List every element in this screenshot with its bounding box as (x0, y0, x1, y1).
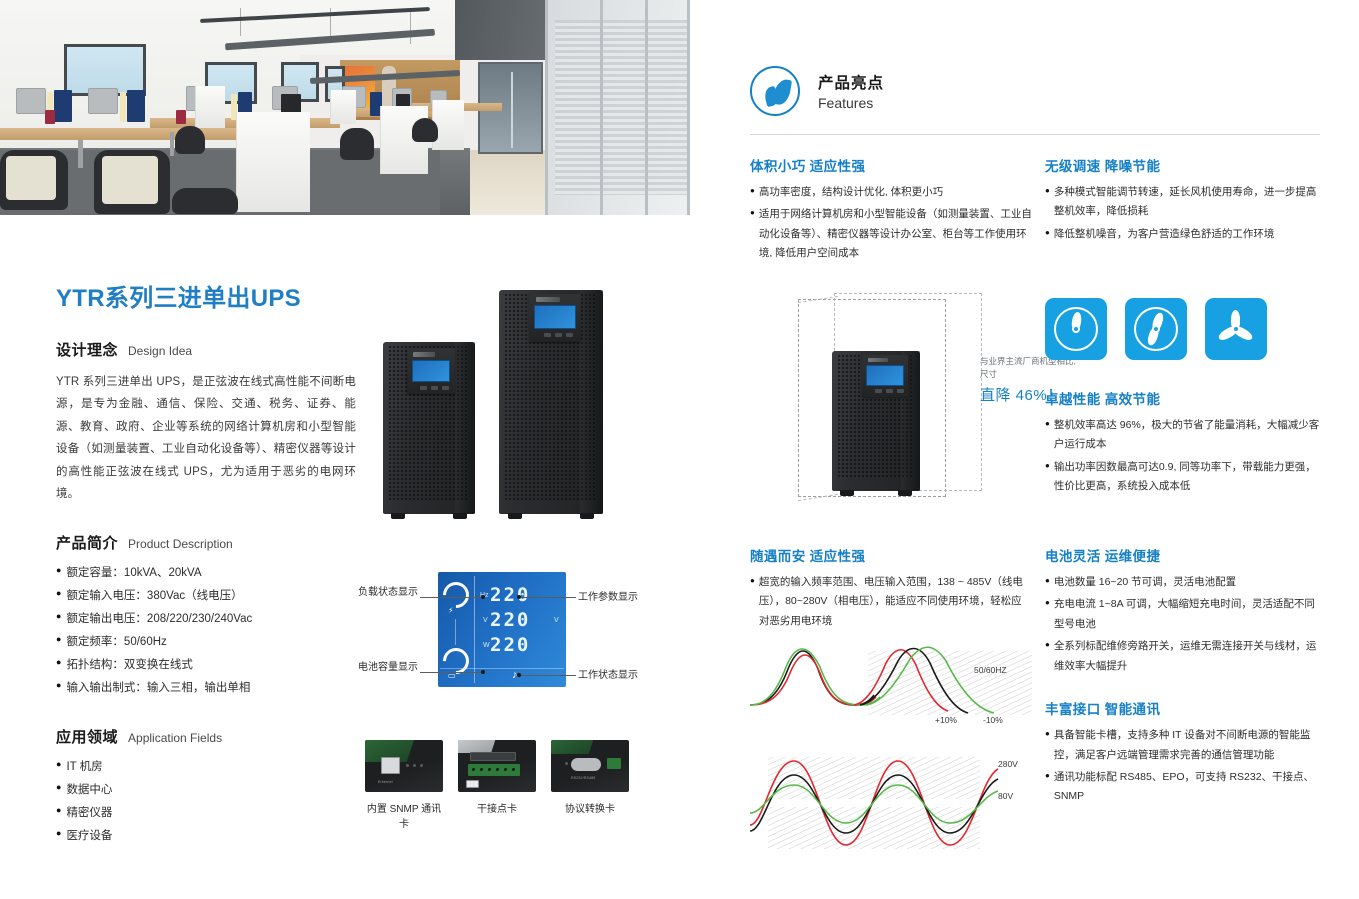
feature-bullet: ●电池数量 16~20 节可调，灵活电池配置 (1045, 573, 1323, 592)
card-protocol-converter: RS232/RS485 协议转换卡 (551, 740, 629, 815)
bullet-dot-icon: ● (750, 183, 755, 198)
application-fields-list: ●IT 机房 ●数据中心 ●精密仪器 ●医疗设备 (56, 756, 356, 848)
callout-battery-capacity: 电池容量显示 (358, 658, 418, 673)
protocol-port-label: RS232/RS485 (571, 776, 596, 780)
ups-product-photos (375, 290, 640, 545)
feature-bullet: ●多种模式智能调节转速，延长风机使用寿命，进一步提高整机效率，降低损耗 (1045, 183, 1323, 222)
ups-compact-unit (832, 351, 920, 491)
bullet-dot-icon: ● (56, 654, 61, 672)
bullet-dot-icon: ● (56, 677, 61, 695)
feature-bullet-text: 电池数量 16~20 节可调，灵活电池配置 (1054, 573, 1236, 592)
list-item-text: 额定容量：10kVA、20kVA (66, 562, 201, 585)
chart-annotation-280v: 280V (998, 759, 1018, 769)
list-item: ●拓扑结构：双变换在线式 (56, 654, 356, 677)
bullet-dot-icon: ● (56, 802, 61, 820)
feature-block-performance: 卓越性能 高效节能 ●整机效率高达 96%，极大的节省了能量消耗，大幅减少客户运… (1045, 388, 1323, 500)
list-item: ●数据中心 (56, 779, 356, 802)
bullet-dot-icon: ● (1045, 726, 1050, 741)
voltage-waveform-svg (750, 751, 1032, 861)
list-item: ●医疗设备 (56, 825, 356, 848)
feature-title: 卓越性能 高效节能 (1045, 388, 1323, 408)
application-title-en: Application Fields (128, 731, 222, 745)
list-item-text: IT 机房 (66, 756, 102, 779)
features-title-cn: 产品亮点 (818, 71, 884, 93)
features-header: 产品亮点 Features (750, 66, 1320, 116)
features-row-3: 随遇而安 适应性强 ●超宽的输入频率范围、电压输入范围，138 ~ 485V（线… (750, 545, 1320, 875)
bullet-dot-icon: ● (750, 205, 755, 220)
fan-speed-icons (1045, 298, 1267, 360)
feature-bullet: ●充电电流 1~8A 可调，大幅缩短充电时间，灵活适配不同型号电池 (1045, 595, 1323, 634)
feature-bullet: ●通讯功能标配 RS485、EPO，可支持 RS232、干接点、SNMP (1045, 768, 1323, 807)
list-item-text: 精密仪器 (66, 802, 112, 825)
feature-bullet-text: 整机效率高达 96%，极大的节省了能量消耗，大幅减少客户运行成本 (1054, 416, 1323, 455)
bullet-dot-icon: ● (1045, 637, 1050, 652)
feature-bullet: ●整机效率高达 96%，极大的节省了能量消耗，大幅减少客户运行成本 (1045, 416, 1323, 455)
feature-bullet: ●全系列标配维修旁路开关，运维无需连接开关与线材，运维效率大幅提升 (1045, 637, 1323, 676)
feature-bullet-text: 输出功率因数最高可达0.9, 同等功率下，带载能力更强，性价比更高，系统投入成本… (1054, 458, 1323, 497)
bullet-dot-icon: ● (1045, 768, 1050, 783)
list-item: ●额定输出电压：208/220/230/240Vac (56, 608, 356, 631)
fan-3-blade-icon (1205, 298, 1267, 360)
feature-bullet-text: 适用于网络计算机房和小型智能设备（如测量装置、工业自动化设备等）、精密仪器等设计… (759, 205, 1032, 263)
chart-annotation-frequency: 50/60HZ (974, 665, 1007, 675)
feature-bullet: ●超宽的输入频率范围、电压输入范围，138 ~ 485V（线电压），80~280… (750, 573, 1032, 631)
chart-annotation-80v: 80V (998, 791, 1013, 801)
load-icon: ⚡ (448, 606, 454, 615)
feature-bullet-text: 通讯功能标配 RS485、EPO，可支持 RS232、干接点、SNMP (1054, 768, 1323, 807)
list-item: ●额定输入电压：380Vac（线电压） (56, 585, 356, 608)
office-scene (0, 0, 690, 215)
bullet-dot-icon: ● (56, 779, 61, 797)
bullet-dot-icon: ● (56, 562, 61, 580)
feature-bullet-text: 超宽的输入频率范围、电压输入范围，138 ~ 485V（线电压），80~280V… (759, 573, 1032, 631)
bullet-dot-icon: ● (1045, 225, 1050, 240)
bullet-dot-icon: ● (56, 756, 61, 774)
list-item-text: 输入输出制式：输入三相，输出单相 (66, 677, 250, 700)
lcd-unit-2: W (483, 642, 490, 649)
design-idea-paragraph: YTR 系列三进单出 UPS，是正弦波在线式高性能不间断电源，是专为金融、通信、… (56, 371, 356, 506)
bullet-dot-icon: ● (1045, 183, 1050, 198)
feature-title: 随遇而安 适应性强 (750, 545, 1032, 565)
design-idea-title-cn: 设计理念 (56, 339, 118, 360)
bullet-dot-icon: ● (750, 573, 755, 588)
page-title: YTR系列三进单出UPS (56, 278, 356, 313)
feature-bullet: ●降低整机噪音，为客户营造绿色舒适的工作环境 (1045, 225, 1323, 244)
ups-unit-20kva (499, 290, 603, 514)
bullet-dot-icon: ● (1045, 416, 1050, 431)
bullet-dot-icon: ● (56, 825, 61, 843)
feature-bullet-text: 降低整机噪音，为客户营造绿色舒适的工作环境 (1054, 225, 1275, 244)
feature-bullet: ●具备智能卡槽，支持多种 IT 设备对不间断电源的智能监控，满足客户远端管理需求… (1045, 726, 1323, 765)
feature-title: 丰富接口 智能通讯 (1045, 698, 1323, 718)
feature-bullet: ●输出功率因数最高可达0.9, 同等功率下，带载能力更强，性价比更高，系统投入成… (1045, 458, 1323, 497)
list-item-text: 医疗设备 (66, 825, 112, 848)
fan-2-blade-icon (1125, 298, 1187, 360)
bullet-dot-icon: ● (56, 631, 61, 649)
snmp-port-label: Ethernet (378, 780, 393, 784)
chart-frequency-range: 50/60HZ +10% -10% (750, 643, 1032, 733)
list-item-text: 数据中心 (66, 779, 112, 802)
left-content-column: YTR系列三进单出UPS 设计理念 Design Idea YTR 系列三进单出… (56, 278, 356, 848)
chart-voltage-range: 280V 80V (750, 751, 1032, 861)
section-header-application-fields: 应用领域 Application Fields (56, 726, 356, 747)
feature-block-compact: 体积小巧 适应性强 ●高功率密度，结构设计优化, 体积更小巧 ●适用于网络计算机… (750, 155, 1032, 267)
leaf-check-icon (750, 66, 800, 116)
dry-contact-card-image (458, 740, 536, 792)
feature-title: 无级调速 降噪节能 (1045, 155, 1323, 175)
feature-title: 体积小巧 适应性强 (750, 155, 1032, 175)
features-panel: 产品亮点 Features 体积小巧 适应性强 ●高功率密度，结构设计优化, 体… (750, 66, 1320, 875)
fan-1-blade-icon (1045, 298, 1107, 360)
bullet-dot-icon: ● (56, 608, 61, 626)
bullet-dot-icon: ● (1045, 458, 1050, 473)
feature-block-battery: 电池灵活 运维便捷 ●电池数量 16~20 节可调，灵活电池配置 ●充电电流 1… (1045, 545, 1323, 810)
card-caption: 协议转换卡 (551, 800, 629, 815)
application-title-cn: 应用领域 (56, 726, 118, 747)
lcd-unit-1: V (483, 617, 488, 624)
feature-block-speed: 无级调速 降噪节能 ●多种模式智能调节转速，延长风机使用寿命，进一步提高整机效率… (1045, 155, 1323, 247)
list-item: ●精密仪器 (56, 802, 356, 825)
feature-block-adaptability: 随遇而安 适应性强 ●超宽的输入频率范围、电压输入范围，138 ~ 485V（线… (750, 545, 1032, 861)
lcd-display-panel: ⚡ ▭ Hz 220 V 220 V W 220 ♪ (438, 572, 566, 687)
lcd-unit-1-right: V (554, 617, 559, 624)
callout-load-status: 负载状态显示 (358, 583, 418, 598)
bullet-dot-icon: ● (56, 585, 61, 603)
communication-cards-row: Ethernet 内置 SNMP 通讯卡 干接点卡 RS232/RS485 协议… (365, 740, 630, 830)
feature-bullet-text: 具备智能卡槽，支持多种 IT 设备对不间断电源的智能监控，满足客户远端管理需求完… (1054, 726, 1323, 765)
chart-annotation-minus10: -10% (983, 715, 1003, 725)
feature-bullet-text: 全系列标配维修旁路开关，运维无需连接开关与线材，运维效率大幅提升 (1054, 637, 1323, 676)
callout-operating-parameters: 工作参数显示 (578, 588, 638, 603)
design-idea-title-en: Design Idea (128, 344, 192, 358)
description-title-en: Product Description (128, 537, 233, 551)
lcd-value-row-1: 220 (490, 609, 530, 631)
card-caption: 干接点卡 (458, 800, 536, 815)
list-item: ●额定频率：50/60Hz (56, 631, 356, 654)
section-header-product-description: 产品简介 Product Description (56, 532, 356, 553)
feature-bullet-text: 多种模式智能调节转速，延长风机使用寿命，进一步提高整机效率，降低损耗 (1054, 183, 1323, 222)
features-row-2: 与业界主流厂商机型相比, 尺寸 直降 46%！ (750, 293, 1320, 525)
snmp-card-image: Ethernet (365, 740, 443, 792)
features-row-1: 体积小巧 适应性强 ●高功率密度，结构设计优化, 体积更小巧 ●适用于网络计算机… (750, 155, 1320, 273)
card-snmp: Ethernet 内置 SNMP 通讯卡 (365, 740, 443, 830)
callout-operating-status: 工作状态显示 (578, 666, 638, 681)
feature-bullet-text: 充电电流 1~8A 可调，大幅缩短充电时间，灵活适配不同型号电池 (1054, 595, 1323, 634)
product-description-list: ●额定容量：10kVA、20kVA ●额定输入电压：380Vac（线电压） ●额… (56, 562, 356, 700)
list-item-text: 额定输出电压：208/220/230/240Vac (66, 608, 252, 631)
list-item-text: 额定频率：50/60Hz (66, 631, 166, 654)
list-item-text: 拓扑结构：双变换在线式 (66, 654, 193, 677)
features-title-en: Features (818, 95, 884, 111)
section-header-design-idea: 设计理念 Design Idea (56, 339, 356, 360)
feature-bullet: ●高功率密度，结构设计优化, 体积更小巧 (750, 183, 1032, 202)
bullet-dot-icon: ● (1045, 595, 1050, 610)
chart-annotation-plus10: +10% (935, 715, 957, 725)
card-caption: 内置 SNMP 通讯卡 (365, 800, 443, 830)
feature-title: 电池灵活 运维便捷 (1045, 545, 1323, 565)
list-item: ●IT 机房 (56, 756, 356, 779)
header-divider (750, 134, 1320, 135)
bullet-dot-icon: ● (1045, 573, 1050, 588)
lcd-value-row-2: 220 (490, 634, 530, 656)
feature-bullet-text: 高功率密度，结构设计优化, 体积更小巧 (759, 183, 943, 202)
description-title-cn: 产品简介 (56, 532, 118, 553)
protocol-card-image: RS232/RS485 (551, 740, 629, 792)
lcd-value-row-0: 220 (490, 584, 530, 606)
list-item-text: 额定输入电压：380Vac（线电压） (66, 585, 242, 608)
ups-unit-10kva (383, 342, 475, 514)
hero-office-photo (0, 0, 690, 215)
ups-size-comparison: 与业界主流厂商机型相比, 尺寸 直降 46%！ (790, 293, 990, 518)
feature-bullet: ●适用于网络计算机房和小型智能设备（如测量装置、工业自动化设备等）、精密仪器等设… (750, 205, 1032, 263)
card-dry-contact: 干接点卡 (458, 740, 536, 815)
list-item: ●额定容量：10kVA、20kVA (56, 562, 356, 585)
list-item: ●输入输出制式：输入三相，输出单相 (56, 677, 356, 700)
